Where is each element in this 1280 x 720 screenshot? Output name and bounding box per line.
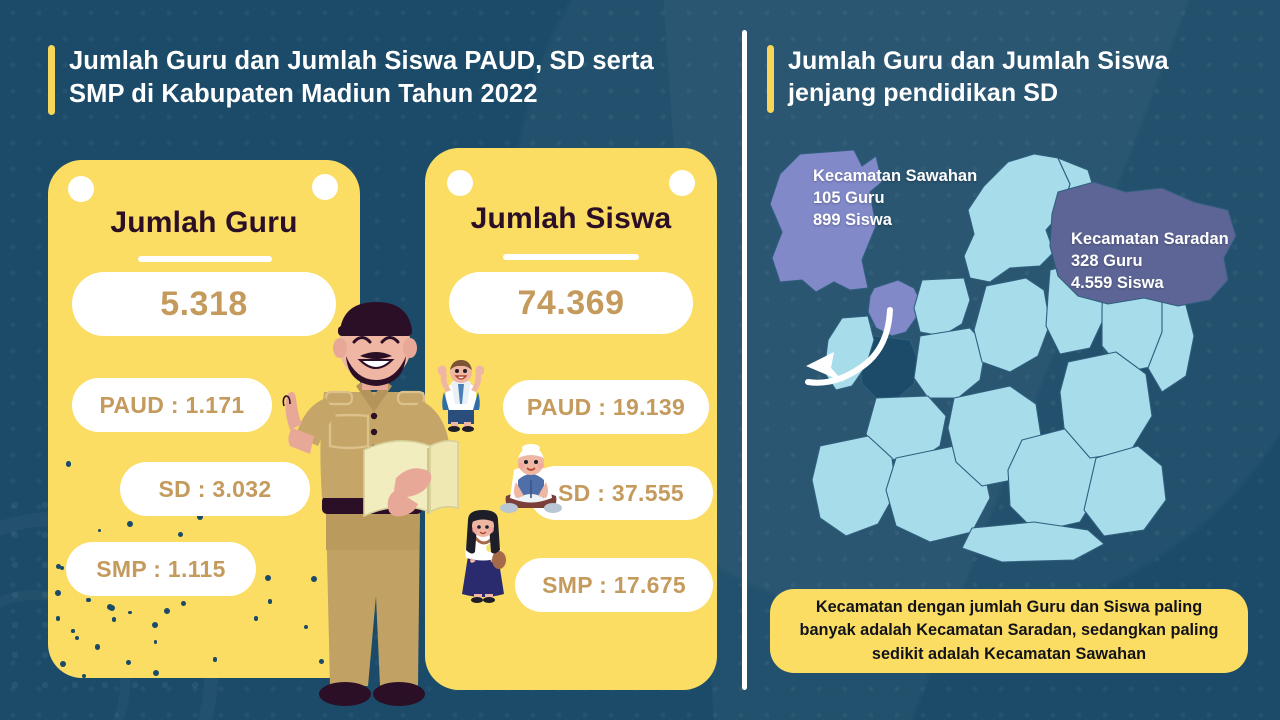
map-region-sawahan-actual (868, 280, 920, 336)
map-kabupaten-madiun: Kecamatan Sawahan 105 Guru 899 Siswa Kec… (758, 140, 1278, 580)
tag-hole-right-icon (312, 174, 338, 200)
title-accent-bar-right (767, 45, 774, 113)
card-jumlah-siswa: Jumlah Siswa 74.369 PAUD : 19.139 SD : 3… (425, 148, 717, 690)
map-region-far-southeast (1084, 446, 1166, 536)
card-jumlah-guru: Jumlah Guru 5.318 PAUD : 1.171 SD : 3.03… (48, 160, 360, 678)
card-siswa-title: Jumlah Siswa (425, 202, 717, 236)
card-guru-total: 5.318 (72, 272, 336, 336)
card-siswa-smp: SMP : 17.675 (515, 558, 713, 612)
map-region-southwest (812, 436, 896, 536)
map-label-sawahan-students: 899 Siswa (813, 209, 977, 231)
map-region-northwest (914, 278, 970, 336)
map-region-center-left (914, 328, 986, 398)
map-label-sawahan-teachers: 105 Guru (813, 187, 977, 209)
map-label-saradan-name: Kecamatan Saradan (1071, 228, 1229, 250)
map-caption-box: Kecamatan dengan jumlah Guru dan Siswa p… (770, 589, 1248, 673)
card-guru-paud: PAUD : 1.171 (72, 378, 272, 432)
map-region-center (974, 278, 1050, 372)
page-title-left: Jumlah Guru dan Jumlah Siswa PAUD, SD se… (48, 45, 708, 115)
card-siswa-total: 74.369 (449, 272, 693, 334)
card-guru-title: Jumlah Guru (48, 206, 360, 240)
map-region-south-tail (962, 522, 1104, 562)
tag-hole-left-icon-siswa (447, 170, 473, 196)
card-siswa-sd: SD : 37.555 (529, 466, 713, 520)
tag-hole-left-icon (68, 176, 94, 202)
card-siswa-title-underline (503, 254, 639, 260)
page-title-right: Jumlah Guru dan Jumlah Siswa jenjang pen… (767, 45, 1237, 113)
card-guru-sd: SD : 3.032 (120, 462, 310, 516)
tag-hole-right-icon-siswa (669, 170, 695, 196)
title-right-text: Jumlah Guru dan Jumlah Siswa jenjang pen… (788, 45, 1237, 109)
map-label-saradan-students: 4.559 Siswa (1071, 272, 1229, 294)
card-guru-smp: SMP : 1.115 (66, 542, 256, 596)
card-siswa-paud: PAUD : 19.139 (503, 380, 709, 434)
title-accent-bar (48, 45, 55, 115)
title-left-text: Jumlah Guru dan Jumlah Siswa PAUD, SD se… (69, 45, 708, 110)
map-label-saradan: Kecamatan Saradan 328 Guru 4.559 Siswa (1071, 228, 1229, 294)
map-label-sawahan-name: Kecamatan Sawahan (813, 165, 977, 187)
map-label-sawahan: Kecamatan Sawahan 105 Guru 899 Siswa (813, 165, 977, 231)
card-guru-title-underline (138, 256, 272, 262)
vertical-divider (742, 30, 747, 690)
infographic-canvas: Jumlah Guru dan Jumlah Siswa PAUD, SD se… (0, 0, 1280, 720)
map-label-saradan-teachers: 328 Guru (1071, 250, 1229, 272)
